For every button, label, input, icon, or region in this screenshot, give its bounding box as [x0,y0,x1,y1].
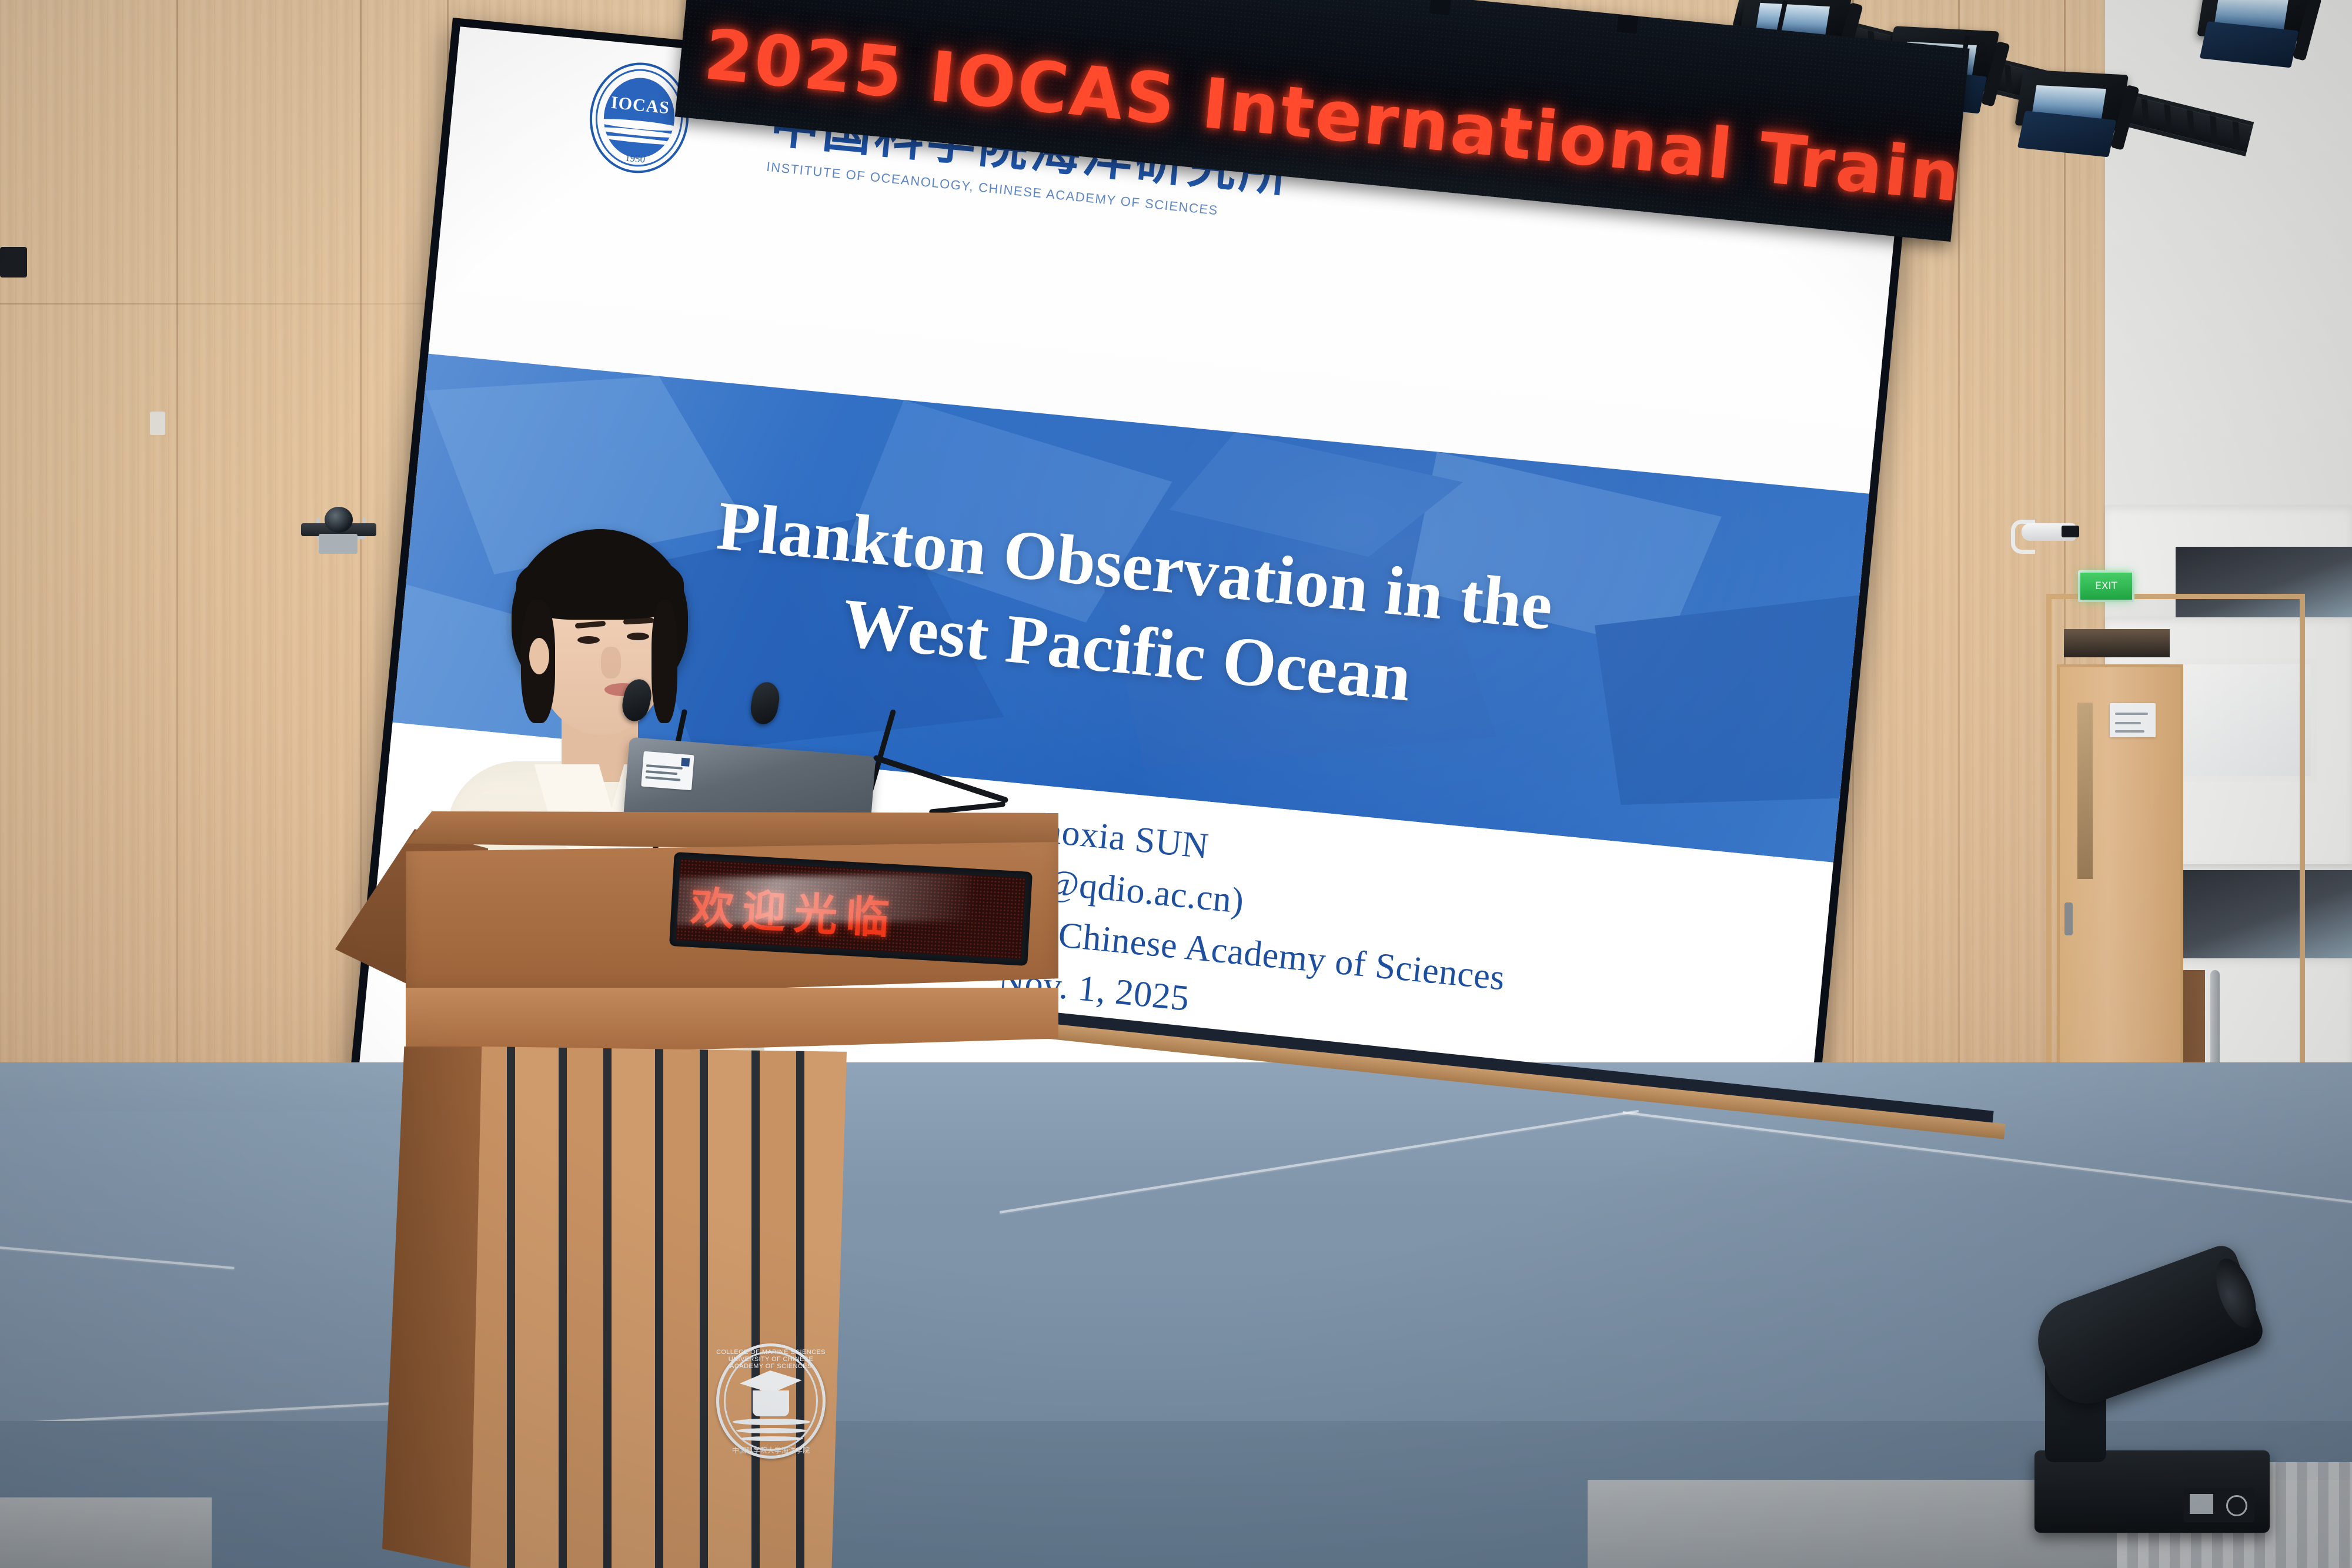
university-emblem: COLLEGE OF MARINE SCIENCES UNIVERSITY OF… [716,1343,826,1459]
camera-lens-icon [325,507,353,533]
exit-sign: EXIT [2078,570,2134,602]
moving-head-stage-light [1999,1256,2293,1533]
lectern: 欢迎光临 COLLEGE OF MARINE SCIENCES UNIVERSI… [406,811,1058,1568]
security-camera [2011,517,2082,553]
conference-hall-photo: EXIT [0,0,2352,1568]
light-control-panel[interactable] [2184,1488,2254,1522]
stage-light-fixture [2010,64,2127,168]
door-vision-panel [2077,703,2093,879]
door-transom-window [2064,629,2170,657]
door-handle[interactable] [2064,902,2073,935]
exit-sign-label: EXIT [2080,573,2132,600]
wall-mounted-camera [294,506,382,556]
lectern-column [470,1047,847,1568]
stage-skirt [0,1497,212,1568]
wall-speaker [0,247,27,278]
wave-icon [733,1419,810,1425]
laptop-asset-sticker [641,751,694,791]
emblem-text-cn: 中国科学院大学海洋学院 [716,1445,826,1455]
lectern-led-display: 欢迎光临 [669,852,1033,966]
emblem-text-en: COLLEGE OF MARINE SCIENCES UNIVERSITY OF… [716,1349,826,1370]
iocas-logo: IOCAS 1950 [584,58,693,177]
wall-plate [150,412,165,435]
camera-lens-icon [2062,526,2079,537]
light-lens-icon [2208,1253,2264,1333]
door-notice-sign [2110,703,2156,737]
